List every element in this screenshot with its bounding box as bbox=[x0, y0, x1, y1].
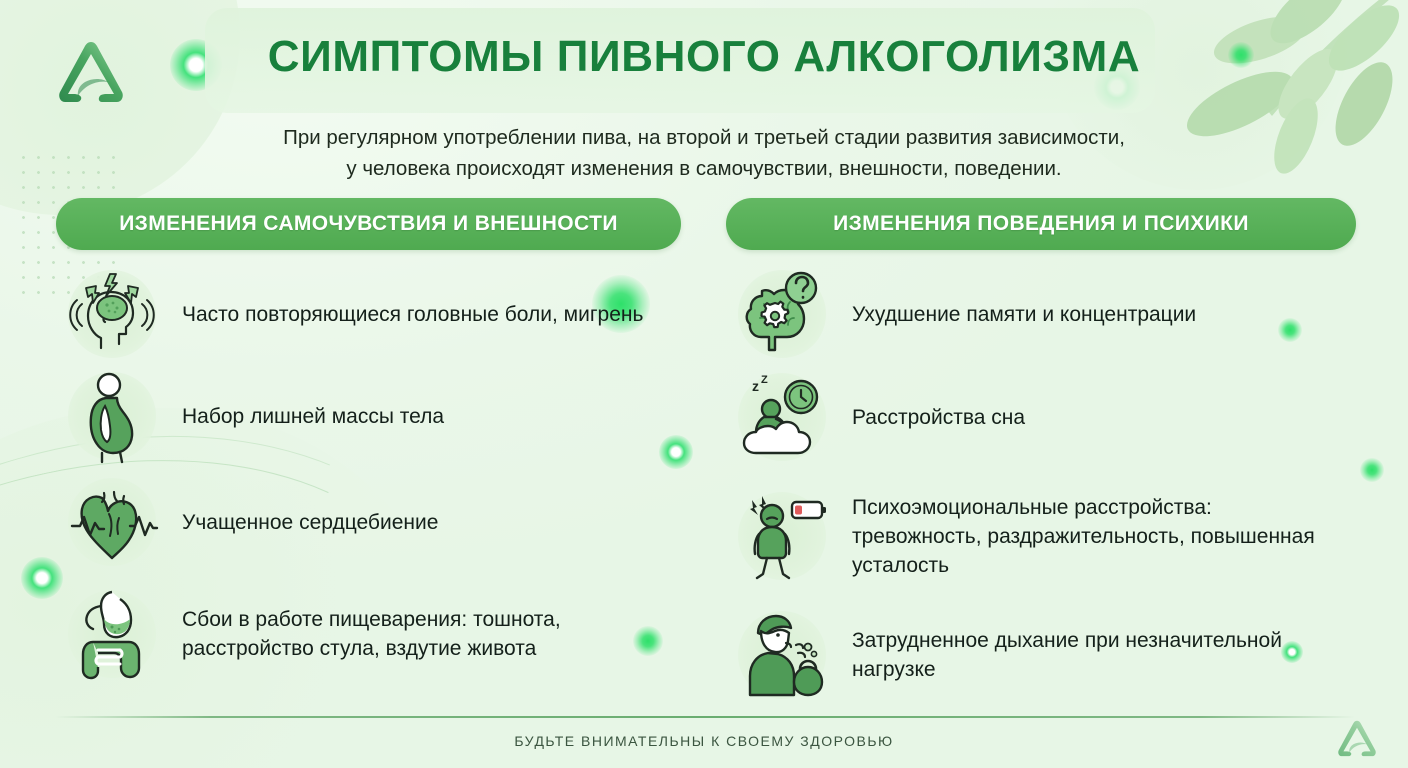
overweight-body-icon bbox=[56, 360, 168, 472]
list-item: Часто повторяющиеся головные боли, мигре… bbox=[56, 266, 686, 362]
list-item: Психоэмоциональные расстройства: тревожн… bbox=[726, 472, 1360, 600]
section-banner-mental-label: ИЗМЕНЕНИЯ ПОВЕДЕНИЯ И ПСИХИКИ bbox=[833, 212, 1249, 236]
column-mental-symptoms: ИЗМЕНЕНИЯ ПОВЕДЕНИЯ И ПСИХИКИ bbox=[726, 198, 1360, 710]
svg-text:z: z bbox=[752, 378, 759, 394]
list-item-label: Ухудшение памяти и концентрации bbox=[852, 300, 1196, 329]
list-item-label: Сбои в работе пищеварения: тошнота, расс… bbox=[182, 605, 652, 663]
list-item-label: Психоэмоциональные расстройства: тревожн… bbox=[852, 493, 1322, 580]
list-item-label: Учащенное сердцебиение bbox=[182, 508, 438, 537]
svg-text:Z: Z bbox=[761, 374, 768, 386]
glow-dot-right-edge bbox=[1360, 458, 1384, 482]
list-item: Сбои в работе пищеварения: тошнота, расс… bbox=[56, 574, 686, 694]
insomnia-cloud-clock-icon: z Z bbox=[726, 361, 838, 473]
list-item: Учащенное сердцебиение bbox=[56, 470, 686, 574]
list-item-label: Набор лишней массы тела bbox=[182, 402, 444, 431]
section-banner-physical: ИЗМЕНЕНИЯ САМОЧУВСТВИЯ И ВНЕШНОСТИ bbox=[56, 198, 681, 250]
list-item: Ухудшение памяти и концентрации bbox=[726, 266, 1360, 362]
list-item-label: Часто повторяющиеся головные боли, мигре… bbox=[182, 300, 643, 329]
breathless-kettlebell-icon bbox=[726, 599, 838, 711]
list-item: Затрудненное дыхание при незначительной … bbox=[726, 600, 1360, 710]
list-item: Набор лишней массы тела bbox=[56, 362, 686, 470]
footer-divider bbox=[55, 716, 1355, 718]
low-battery-person-icon bbox=[726, 480, 838, 592]
list-item-label: Расстройства сна bbox=[852, 403, 1025, 432]
physical-symptom-list: Часто повторяющиеся головные боли, мигре… bbox=[56, 266, 686, 694]
mental-symptom-list: Ухудшение памяти и концентрации z Z bbox=[726, 266, 1360, 710]
infographic-canvas: СИМПТОМЫ ПИВНОГО АЛКОГОЛИЗМА При регуляр… bbox=[0, 0, 1408, 768]
footer-caption: БУДЬТЕ ВНИМАТЕЛЬНЫ К СВОЕМУ ЗДОРОВЬЮ bbox=[0, 733, 1408, 749]
subtitle-line-1: При регулярном употреблении пива, на вто… bbox=[169, 122, 1239, 153]
head-migraine-icon bbox=[56, 258, 168, 370]
page-subtitle: При регулярном употреблении пива, на вто… bbox=[169, 122, 1239, 184]
digestive-system-icon bbox=[56, 578, 168, 690]
list-item-label: Затрудненное дыхание при незначительной … bbox=[852, 626, 1322, 684]
page-title: СИМПТОМЫ ПИВНОГО АЛКОГОЛИЗМА bbox=[0, 32, 1408, 82]
brain-question-gear-icon bbox=[726, 258, 838, 370]
subtitle-line-2: у человека происходят изменения в самочу… bbox=[169, 153, 1239, 184]
column-physical-symptoms: ИЗМЕНЕНИЯ САМОЧУВСТВИЯ И ВНЕШНОСТИ bbox=[56, 198, 686, 694]
heart-pulse-icon bbox=[56, 466, 168, 578]
brand-logo-bottom bbox=[1334, 718, 1380, 760]
list-item: z Z Расстройства сна bbox=[726, 362, 1360, 472]
section-banner-mental: ИЗМЕНЕНИЯ ПОВЕДЕНИЯ И ПСИХИКИ bbox=[726, 198, 1356, 250]
section-banner-physical-label: ИЗМЕНЕНИЯ САМОЧУВСТВИЯ И ВНЕШНОСТИ bbox=[119, 212, 618, 236]
